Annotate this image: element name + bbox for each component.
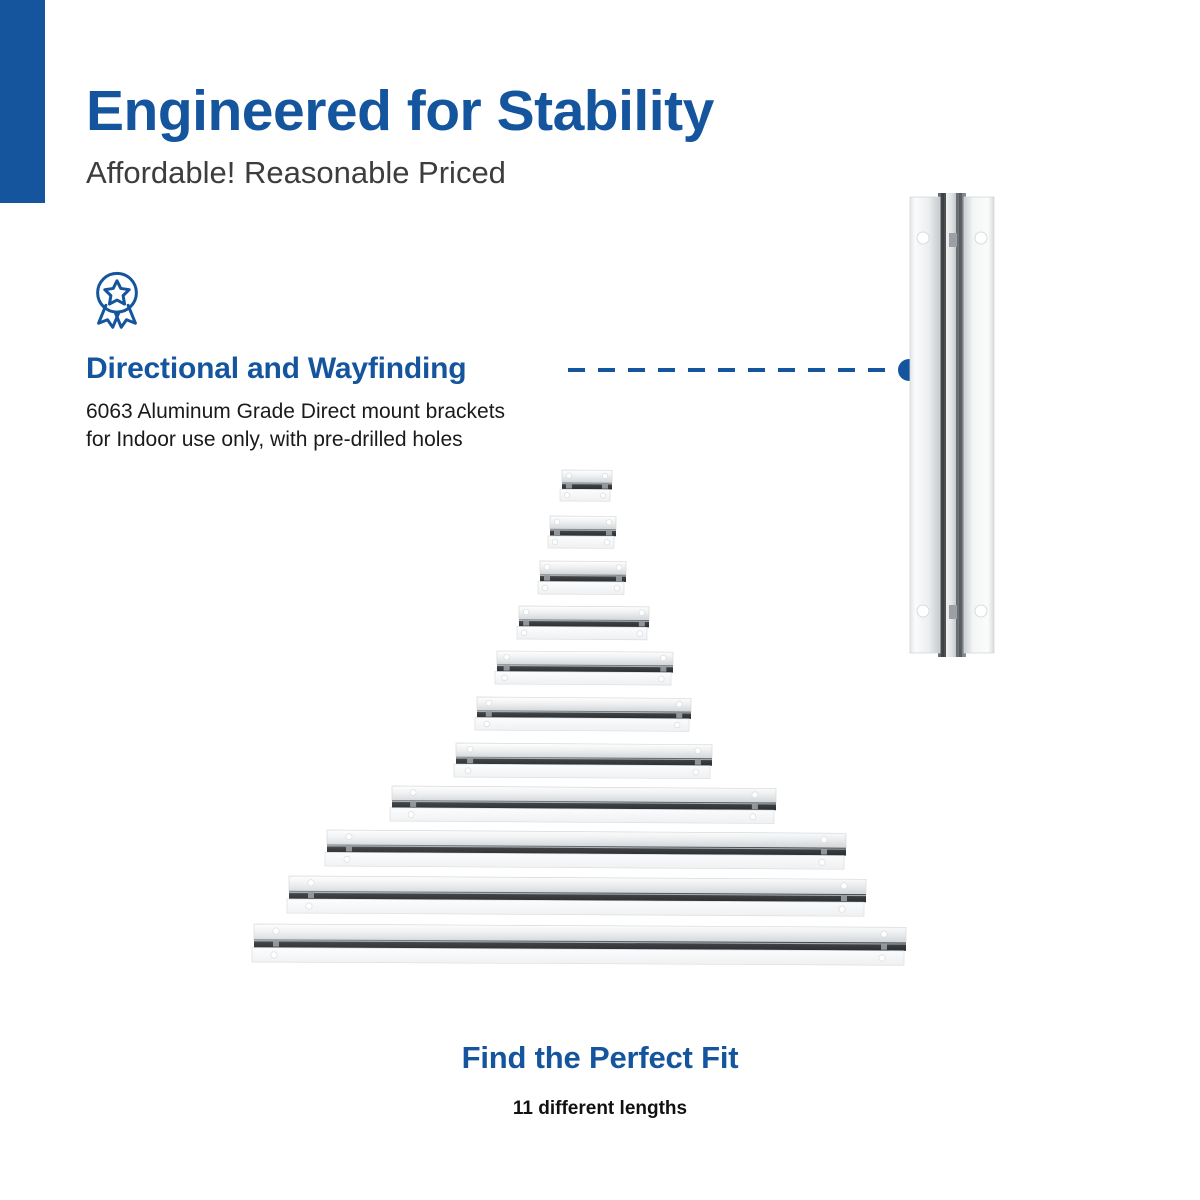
- bracket-hole: [661, 655, 667, 661]
- feature-heading: Directional and Wayfinding: [86, 352, 646, 386]
- bracket-hole: [606, 519, 611, 524]
- bracket-hole: [752, 792, 758, 798]
- bracket-hole: [841, 883, 847, 889]
- bracket-hole: [408, 812, 414, 818]
- feature-block: Directional and Wayfinding 6063 Aluminum…: [86, 268, 646, 455]
- bracket-hole: [273, 928, 279, 934]
- bracket-hole: [486, 700, 492, 706]
- bracket-hole: [308, 880, 314, 886]
- bracket-hole: [614, 585, 620, 591]
- bracket-hole: [917, 232, 929, 244]
- bracket-hole: [410, 789, 416, 795]
- bracket-hole: [616, 565, 622, 571]
- bracket-hole: [602, 473, 607, 478]
- bracket-hole: [879, 955, 885, 961]
- bracket-hole: [750, 814, 756, 820]
- bracket-hole: [523, 609, 529, 615]
- page-subtitle: Affordable! Reasonable Priced: [86, 154, 946, 191]
- bracket-hole: [821, 837, 827, 843]
- bracket-hole: [521, 630, 527, 636]
- bracket-hole: [344, 856, 350, 862]
- callout-connector: [568, 356, 924, 384]
- bracket-hole: [271, 952, 277, 958]
- bracket-hole: [566, 473, 571, 478]
- feature-description: 6063 Aluminum Grade Direct mount bracket…: [86, 398, 646, 455]
- bracket-hole: [917, 605, 929, 617]
- bracket-hole: [552, 539, 557, 544]
- bracket-hole: [637, 631, 643, 637]
- bracket-hole: [819, 859, 825, 865]
- bracket-length-10: [287, 876, 866, 916]
- bracket-hole: [604, 540, 609, 545]
- footer-subtitle: 11 different lengths: [0, 1098, 1200, 1120]
- hero-bracket-vertical: [908, 193, 996, 657]
- bracket-hole: [306, 903, 312, 909]
- bracket-hole: [542, 585, 548, 591]
- page-title: Engineered for Stability: [86, 82, 946, 142]
- bracket-hole: [975, 232, 987, 244]
- bracket-hole: [693, 769, 699, 775]
- bracket-hole: [504, 654, 510, 660]
- bracket-hole: [484, 721, 490, 727]
- bracket-hole: [554, 519, 559, 524]
- header: Engineered for Stability Affordable! Rea…: [86, 82, 946, 191]
- bracket-length-2: [548, 516, 616, 548]
- bracket-length-4: [517, 606, 649, 640]
- bracket-length-9: [325, 830, 846, 869]
- bracket-hole: [465, 768, 471, 774]
- bracket-hole: [676, 701, 682, 707]
- bracket-hole: [881, 931, 887, 937]
- bracket-hole: [639, 610, 645, 616]
- bracket-length-7: [454, 743, 712, 779]
- bracket-hole: [544, 564, 550, 570]
- bracket-hole: [674, 722, 680, 728]
- footer-title: Find the Perfect Fit: [0, 1040, 1200, 1076]
- bracket-length-5: [495, 651, 673, 685]
- award-star-badge-icon: [86, 268, 646, 330]
- bracket-hole: [839, 906, 845, 912]
- bracket-length-8: [390, 786, 776, 824]
- bracket-hole: [467, 746, 473, 752]
- bracket-hole: [975, 605, 987, 617]
- feature-description-line-2: for Indoor use only, with pre-drilled ho…: [86, 426, 646, 454]
- feature-description-line-1: 6063 Aluminum Grade Direct mount bracket…: [86, 398, 646, 426]
- bracket-hole: [564, 493, 569, 498]
- accent-bar: [0, 0, 45, 203]
- bracket-hole: [695, 748, 701, 754]
- bracket-hole: [600, 493, 605, 498]
- bracket-length-1: [560, 470, 612, 501]
- bracket-hole: [502, 675, 508, 681]
- bracket-length-11: [252, 924, 906, 965]
- bracket-hole: [659, 676, 665, 682]
- bracket-length-3: [538, 561, 626, 595]
- bracket-length-6: [475, 697, 691, 731]
- footer: Find the Perfect Fit 11 different length…: [0, 1040, 1200, 1120]
- bracket-hole: [346, 834, 352, 840]
